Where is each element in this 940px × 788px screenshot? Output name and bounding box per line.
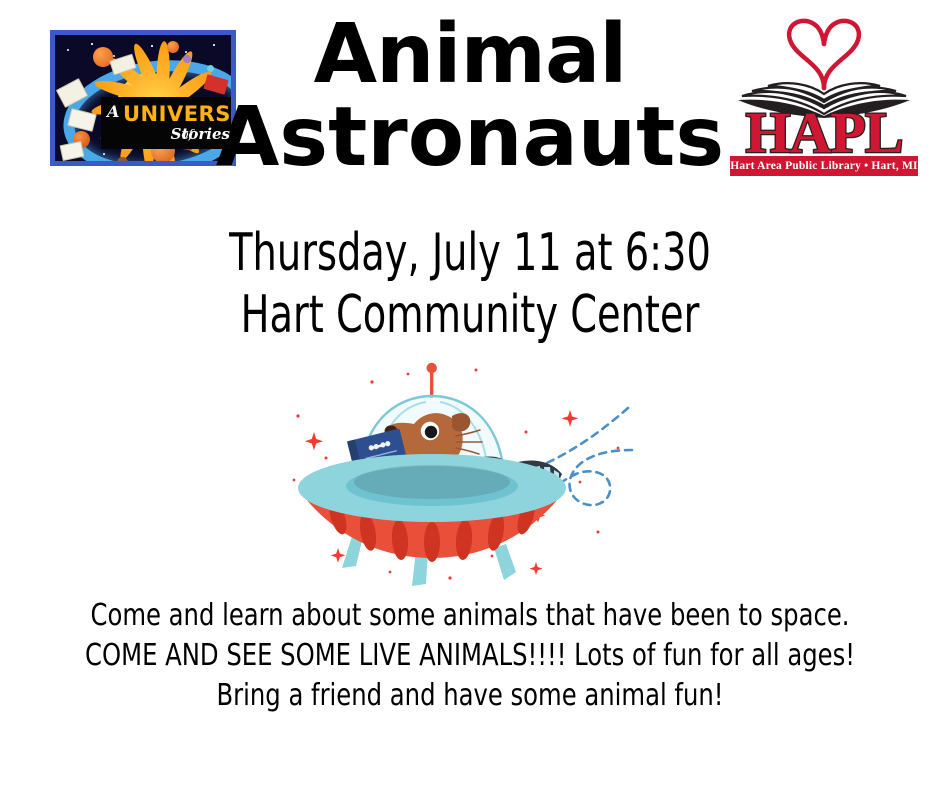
- body-copy: Come and learn about some animals that h…: [0, 596, 940, 716]
- logo-universe-text: UNIVERSE: [123, 104, 236, 125]
- universe-of-stories-logo: A UNIVERSE of Stories: [24, 8, 264, 186]
- event-datetime: Thursday, July 11 at 6:30: [85, 222, 856, 284]
- body-line-3: Bring a friend and have some animal fun!: [47, 676, 893, 716]
- logo-article-text: A: [107, 102, 119, 121]
- event-details: Thursday, July 11 at 6:30 Hart Community…: [0, 222, 940, 346]
- hapl-banner-text: Hart Area Public Library • Hart, MI: [730, 156, 918, 176]
- universe-logo-frame: A UNIVERSE of Stories: [50, 30, 236, 166]
- event-location: Hart Community Center: [85, 284, 856, 346]
- animal-in-flying-saucer-illustration: [280, 362, 660, 588]
- planet: [117, 157, 128, 166]
- planet: [207, 65, 214, 72]
- planet: [183, 55, 191, 63]
- saucer-antenna: [427, 363, 437, 398]
- logo-stories-text: Stories: [171, 125, 230, 143]
- universe-logo-nameplate: A UNIVERSE of Stories: [101, 97, 235, 149]
- planet: [167, 41, 179, 53]
- flyer-poster: A UNIVERSE of Stories: [0, 0, 940, 788]
- body-line-2: COME AND SEE SOME LIVE ANIMALS!!!! Lots …: [47, 636, 893, 676]
- body-line-1: Come and learn about some animals that h…: [47, 596, 893, 636]
- hapl-acronym: HAPL: [726, 104, 922, 162]
- hapl-library-logo: HAPL Hart Area Public Library • Hart, MI: [726, 14, 922, 180]
